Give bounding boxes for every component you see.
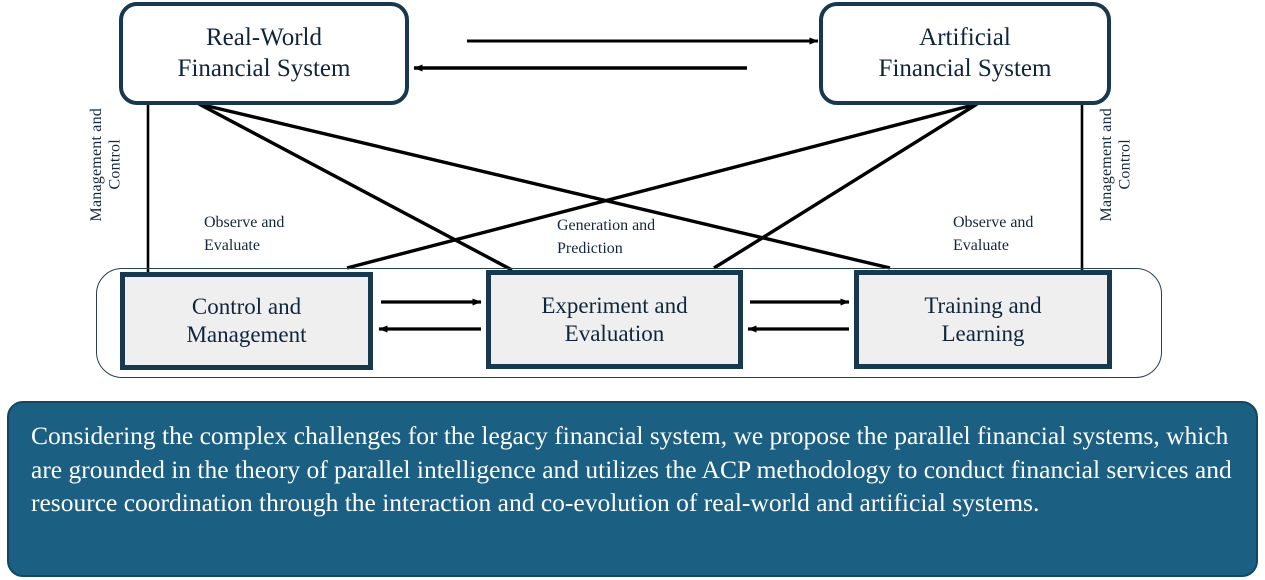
caption-banner: Considering the complex challenges for t…: [7, 401, 1258, 577]
line-artificial-to-control: [347, 104, 977, 268]
box-control-and-management[interactable]: Control and Management: [120, 272, 373, 370]
label-observe-and-evaluate-right: Observe and Evaluate: [953, 211, 1033, 257]
label-generation-and-prediction: Generation and Prediction: [557, 214, 655, 260]
label-observe-and-evaluate-left: Observe and Evaluate: [204, 211, 284, 257]
box-training-and-learning[interactable]: Training and Learning: [854, 270, 1112, 369]
box-experiment-and-evaluation[interactable]: Experiment and Evaluation: [486, 270, 743, 369]
box-artificial-label: Artificial Financial System: [879, 23, 1052, 84]
line-artificial-to-experiment: [714, 104, 977, 268]
box-artificial-financial-system[interactable]: Artificial Financial System: [819, 2, 1111, 105]
box-real-world-label: Real-World Financial System: [178, 23, 351, 84]
label-management-and-control-right: Management and Control: [1098, 108, 1135, 221]
line-real-to-training: [199, 104, 890, 268]
box-training-label: Training and Learning: [924, 292, 1041, 347]
parallel-financial-systems-figure: Real-World Financial System Artificial F…: [0, 0, 1265, 580]
box-control-label: Control and Management: [186, 293, 306, 348]
label-management-and-control-left: Management and Control: [88, 108, 125, 221]
box-experiment-label: Experiment and Evaluation: [541, 292, 687, 347]
box-real-world-financial-system[interactable]: Real-World Financial System: [119, 2, 409, 105]
